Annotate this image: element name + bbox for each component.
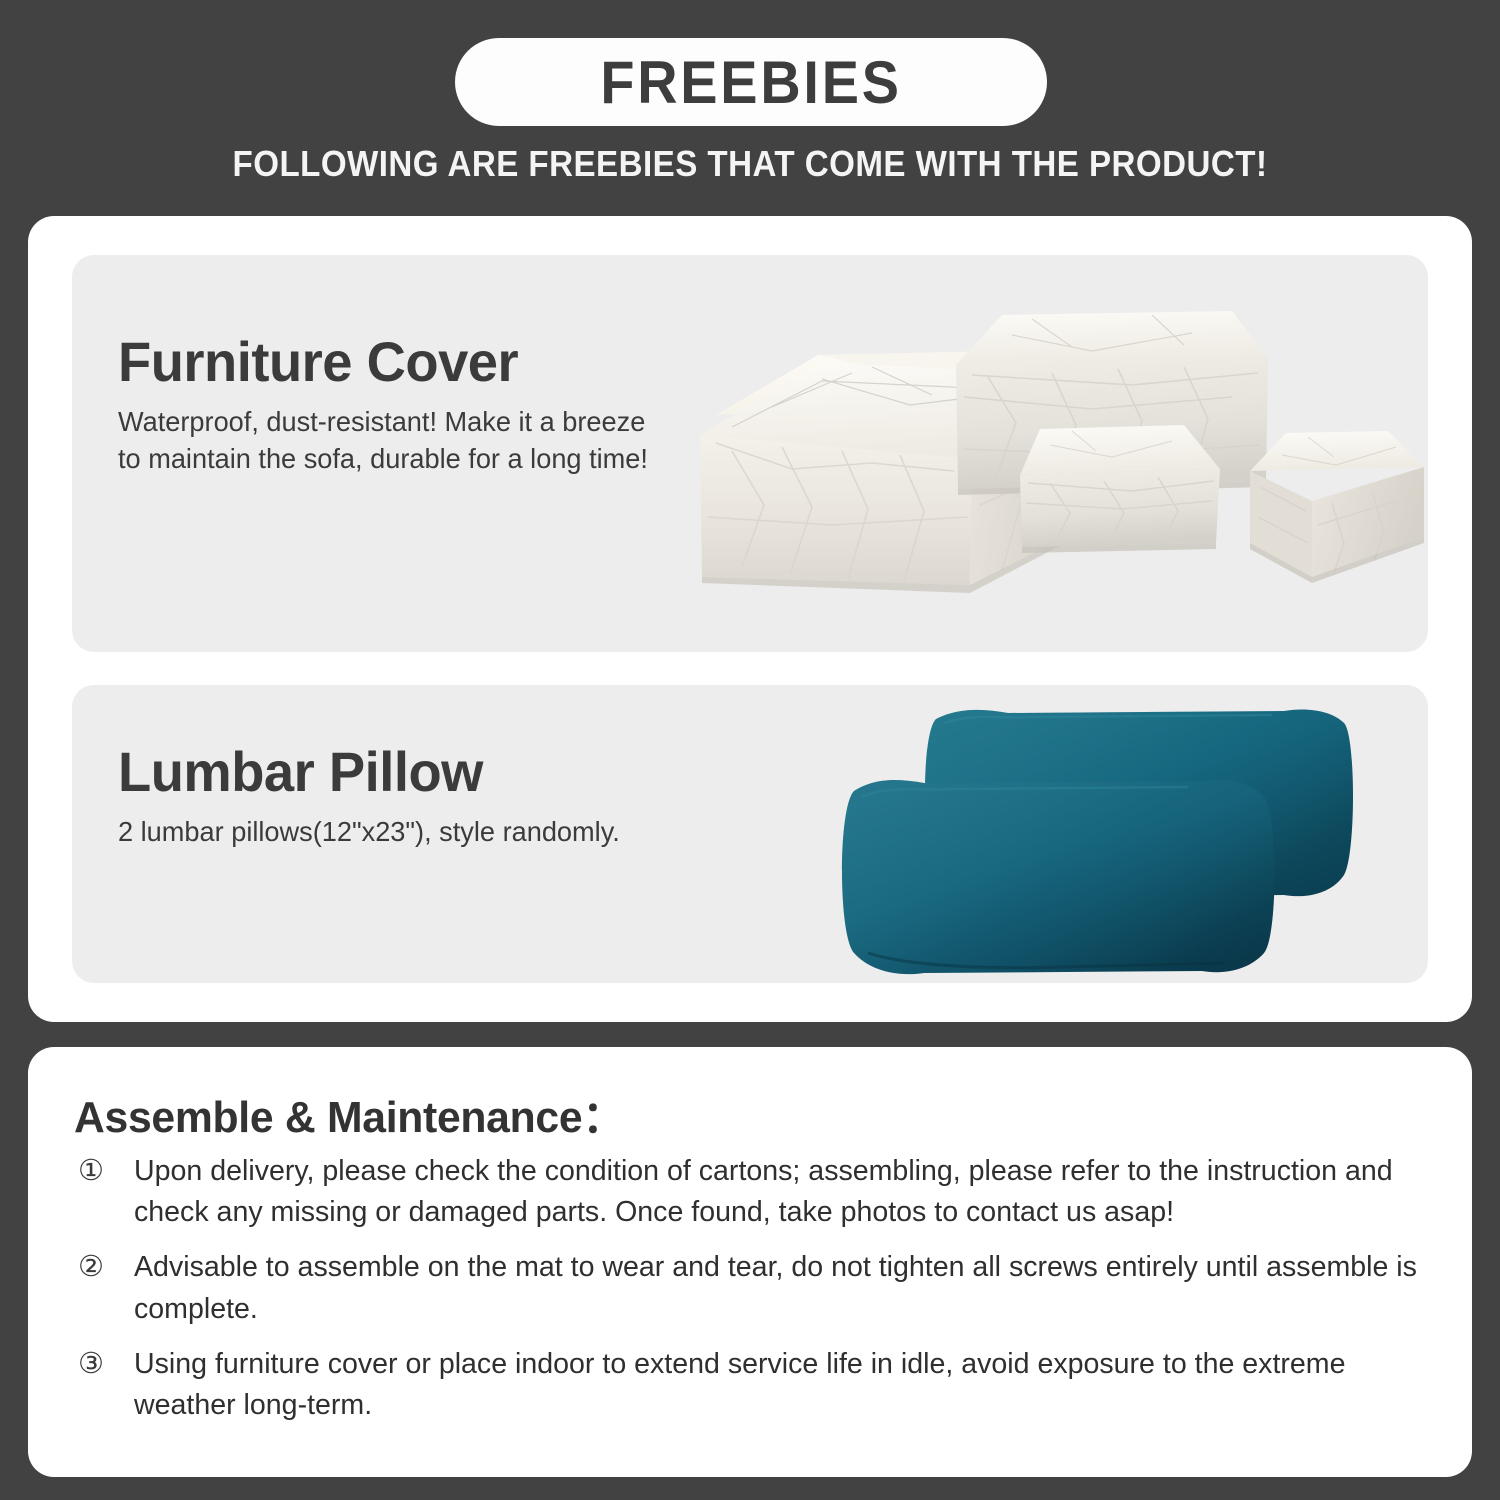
maintenance-card: Assemble & Maintenance： ① Upon delivery,… (28, 1047, 1472, 1477)
maintenance-item-text: Using furniture cover or place indoor to… (134, 1344, 1422, 1426)
maintenance-item-text: Upon delivery, please check the conditio… (134, 1151, 1422, 1233)
freebies-card: Furniture Cover Waterproof, dust-resista… (28, 216, 1472, 1022)
freebies-info-page: FREEBIES FOLLOWING ARE FREEBIES THAT COM… (0, 0, 1500, 1500)
furniture-cover-text-block: Furniture Cover Waterproof, dust-resista… (118, 333, 678, 477)
cover-piece-table (1250, 431, 1424, 583)
maintenance-list-item: ② Advisable to assemble on the mat to we… (72, 1247, 1442, 1329)
maintenance-item-marker: ② (72, 1247, 134, 1288)
page-header: FREEBIES FOLLOWING ARE FREEBIES THAT COM… (0, 0, 1500, 200)
furniture-cover-illustration (672, 255, 1428, 652)
lumbar-pillow-image (832, 685, 1428, 983)
maintenance-list: ① Upon delivery, please check the condit… (72, 1151, 1442, 1440)
lumbar-pillow-text-block: Lumbar Pillow 2 lumbar pillows(12"x23"),… (118, 743, 678, 850)
cover-piece-ottoman (1020, 425, 1220, 553)
pillow-front (842, 780, 1275, 974)
lumbar-pillow-description: 2 lumbar pillows(12"x23"), style randoml… (118, 813, 661, 850)
maintenance-item-marker: ① (72, 1151, 134, 1192)
freebies-badge: FREEBIES (455, 38, 1047, 126)
freebie-panel-furniture-cover: Furniture Cover Waterproof, dust-resista… (72, 255, 1428, 652)
furniture-cover-title: Furniture Cover (118, 333, 661, 392)
furniture-cover-description: Waterproof, dust-resistant! Make it a br… (118, 403, 661, 477)
maintenance-item-marker: ③ (72, 1344, 134, 1385)
furniture-cover-image (672, 255, 1428, 652)
page-subtitle: FOLLOWING ARE FREEBIES THAT COME WITH TH… (60, 143, 1440, 185)
lumbar-pillow-illustration (832, 685, 1428, 983)
maintenance-title: Assemble & Maintenance： (74, 1081, 625, 1145)
lumbar-pillow-title: Lumbar Pillow (118, 743, 661, 802)
freebies-badge-label: FREEBIES (600, 48, 901, 117)
maintenance-list-item: ① Upon delivery, please check the condit… (72, 1151, 1442, 1233)
freebie-panel-lumbar-pillow: Lumbar Pillow 2 lumbar pillows(12"x23"),… (72, 685, 1428, 983)
maintenance-item-text: Advisable to assemble on the mat to wear… (134, 1247, 1422, 1329)
maintenance-list-item: ③ Using furniture cover or place indoor … (72, 1344, 1442, 1426)
